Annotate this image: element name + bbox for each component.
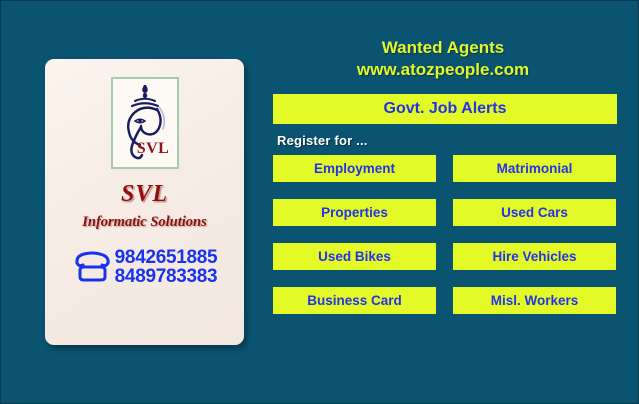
category-button-properties[interactable]: Properties [273,199,436,226]
website-url[interactable]: www.atozpeople.com [267,59,619,81]
category-button-used-cars[interactable]: Used Cars [453,199,616,226]
register-for-label: Register for ... [277,133,619,148]
promo-panel: Wanted Agents www.atozpeople.com Govt. J… [267,37,619,314]
category-button-matrimonial[interactable]: Matrimonial [453,155,616,182]
category-button-employment[interactable]: Employment [273,155,436,182]
category-button-business-card[interactable]: Business Card [273,287,436,314]
brand-name: SVL [121,182,168,206]
ganesha-logo-icon: SVL [111,77,179,169]
contact-phones: 9842651885 8489783383 [45,248,244,287]
company-card: SVL SVL Informatic Solutions 9842651885 [45,59,244,345]
headline-line-1: Wanted Agents [382,38,504,57]
telephone-icon [72,250,114,284]
category-button-used-bikes[interactable]: Used Bikes [273,243,436,270]
phone-number-2[interactable]: 8489783383 [115,267,218,286]
category-button-hire-vehicles[interactable]: Hire Vehicles [453,243,616,270]
category-button-grid: Employment Matrimonial Properties Used C… [273,155,619,314]
headline: Wanted Agents www.atozpeople.com [267,37,619,81]
logo-inner-text: SVL [136,140,169,157]
govt-job-alerts-button[interactable]: Govt. Job Alerts [273,94,617,124]
brand-tagline: Informatic Solutions [82,215,207,230]
advertisement-banner: SVL SVL Informatic Solutions 9842651885 [0,0,639,404]
category-button-misl-workers[interactable]: Misl. Workers [453,287,616,314]
phone-number-1[interactable]: 9842651885 [115,248,218,267]
